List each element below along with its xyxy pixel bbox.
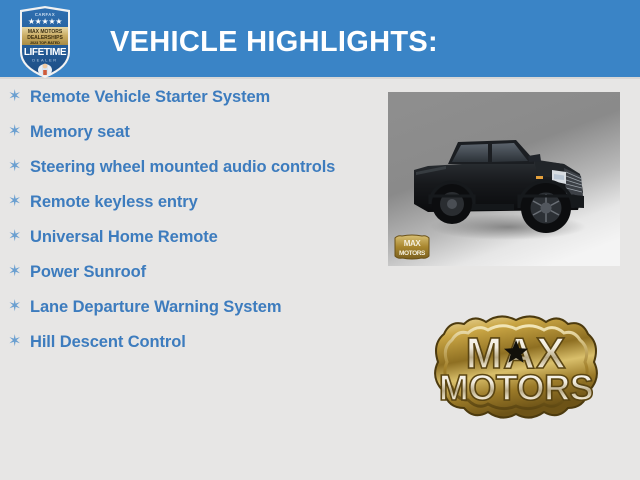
list-item: ✶ Memory seat (0, 121, 380, 143)
star-bullet-icon: ✶ (8, 191, 30, 213)
feature-label: Remote Vehicle Starter System (30, 86, 360, 108)
star-bullet-icon: ✶ (8, 226, 30, 248)
feature-label: Power Sunroof (30, 261, 360, 283)
list-item: ✶ Universal Home Remote (0, 226, 380, 248)
vehicle-highlights-list: ✶ Remote Vehicle Starter System ✶ Memory… (0, 86, 380, 366)
list-item: ✶ Power Sunroof (0, 261, 380, 283)
list-item: ✶ Steering wheel mounted audio controls (0, 156, 380, 178)
list-item: ✶ Lane Departure Warning System (0, 296, 380, 318)
feature-label: Universal Home Remote (30, 226, 360, 248)
star-bullet-icon: ✶ (8, 86, 30, 108)
vehicle-highlights-slide: CARFAX ★★★★★ MAX MOTORS DEALERSHIPS 2023… (0, 0, 640, 480)
feature-label: Remote keyless entry (30, 191, 360, 213)
feature-label: Hill Descent Control (30, 331, 360, 353)
list-item: ✶ Hill Descent Control (0, 331, 380, 353)
star-bullet-icon: ✶ (8, 331, 30, 353)
star-bullet-icon: ✶ (8, 261, 30, 283)
carfax-lifetime-dealer-badge: CARFAX ★★★★★ MAX MOTORS DEALERSHIPS 2023… (16, 4, 74, 80)
star-bullet-icon: ✶ (8, 296, 30, 318)
watermark-line2: MOTORS (399, 250, 426, 257)
header-bar: CARFAX ★★★★★ MAX MOTORS DEALERSHIPS 2023… (0, 0, 640, 79)
badge-line5: DEALER (32, 58, 58, 63)
list-item: ✶ Remote Vehicle Starter System (0, 86, 380, 108)
carfax-stars: ★★★★★ (28, 17, 62, 26)
badge-line3: 2023 TOP-RATED (30, 41, 60, 45)
feature-label: Memory seat (30, 121, 360, 143)
watermark-line1: MAX (404, 239, 422, 248)
badge-line2: DEALERSHIPS (27, 35, 63, 41)
star-bullet-icon: ✶ (8, 156, 30, 178)
page-title: VEHICLE HIGHLIGHTS: (110, 26, 438, 59)
photo-watermark-logo: MAX MOTORS (392, 233, 432, 261)
logo-line2: MOTORS (439, 367, 593, 408)
vehicle-photo[interactable]: MAX MOTORS (388, 92, 620, 266)
max-motors-logo[interactable]: MAX MOTORS (428, 312, 604, 424)
list-item: ✶ Remote keyless entry (0, 191, 380, 213)
feature-label: Steering wheel mounted audio controls (30, 156, 360, 178)
star-bullet-icon: ✶ (8, 121, 30, 143)
badge-line4: LIFETIME (24, 47, 67, 58)
feature-label: Lane Departure Warning System (30, 296, 360, 318)
